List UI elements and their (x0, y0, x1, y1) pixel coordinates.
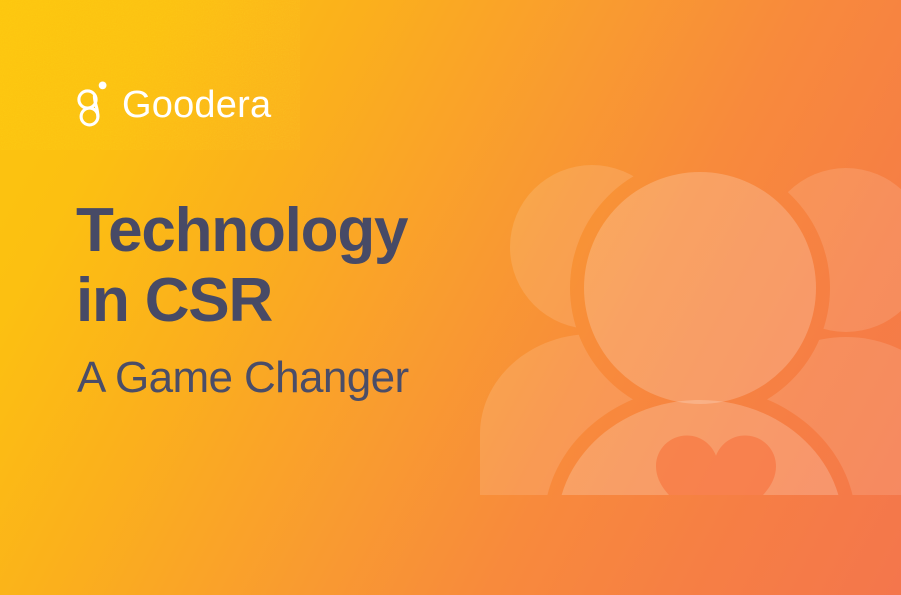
page-title: Technology in CSR (76, 196, 506, 336)
subtitle: A Game Changer (77, 352, 409, 404)
headline-line-2: in CSR (76, 266, 506, 336)
headline-line-1: Technology (76, 196, 506, 266)
presentation-slide: Goodera Technology in CSR A Game Changer (0, 0, 901, 595)
three-people-with-heart-illustration (455, 150, 901, 495)
goodera-g-mark-icon (74, 80, 108, 130)
goodera-wordmark: Goodera (122, 86, 271, 124)
goodera-logo-lockup[interactable]: Goodera (74, 78, 271, 132)
